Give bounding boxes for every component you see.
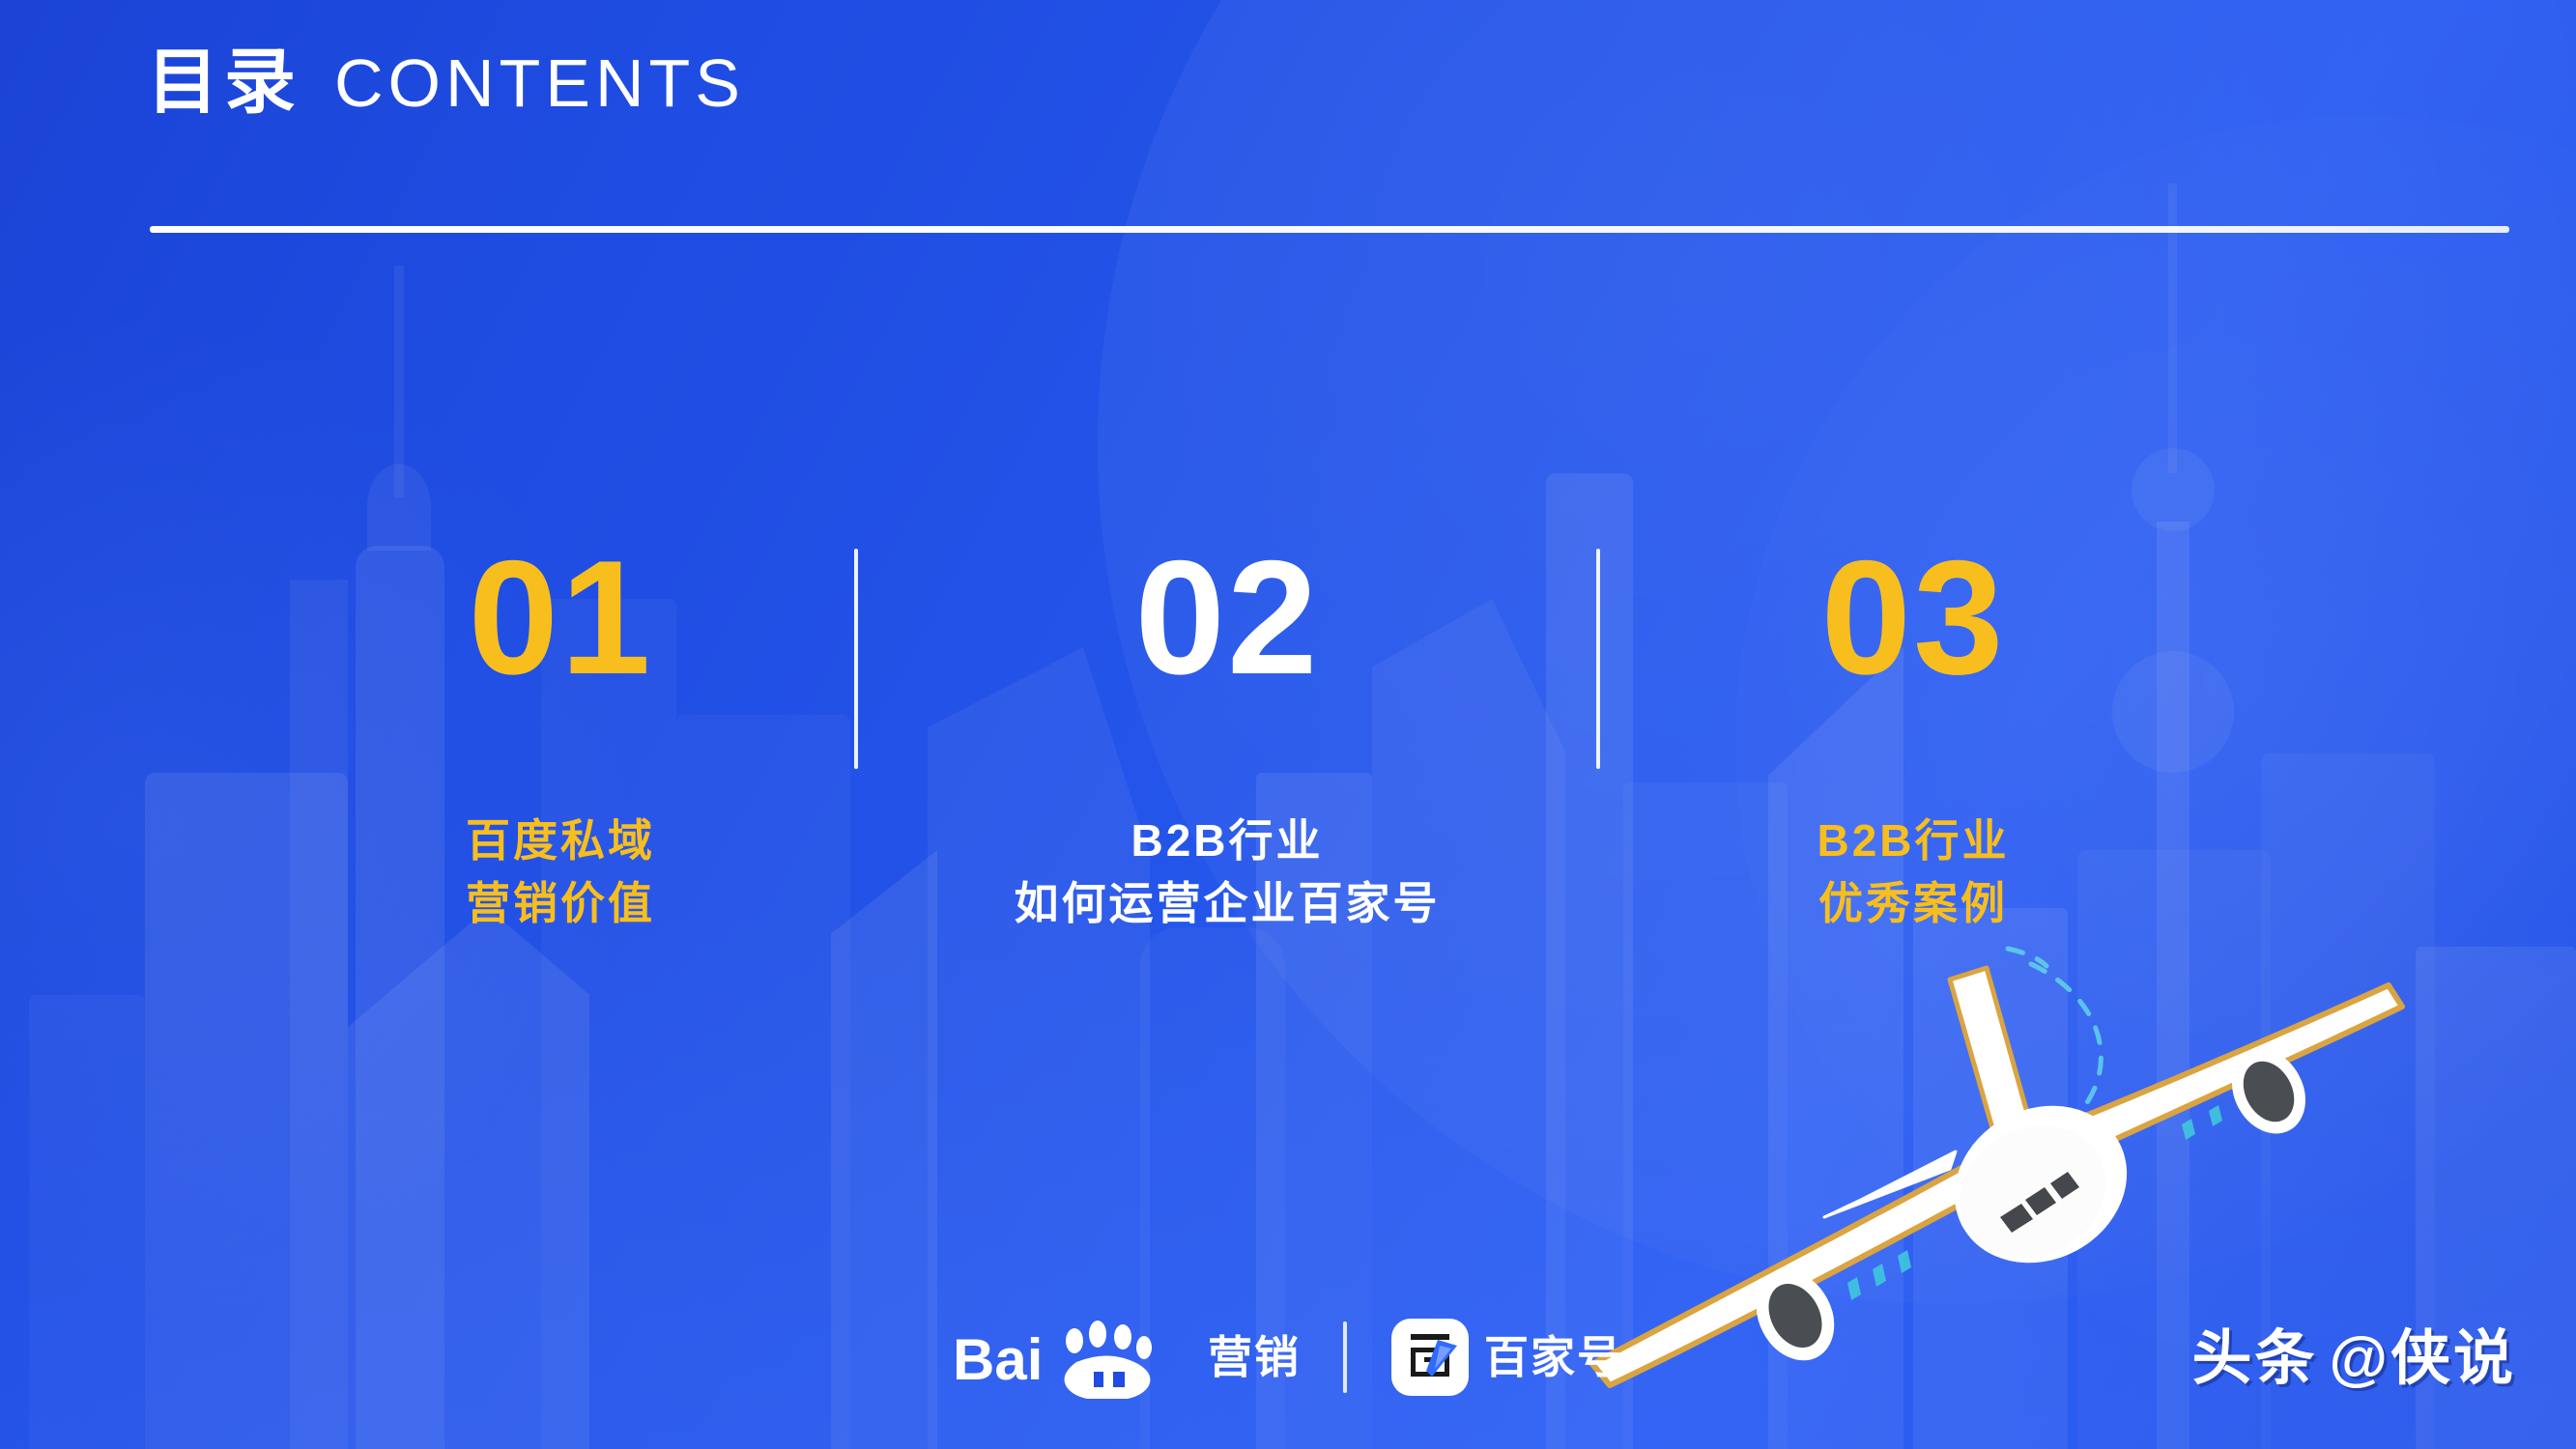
contents-item-label: B2B行业 如何运营企业百家号 — [1015, 810, 1441, 936]
baijiahao-app-icon — [1389, 1317, 1471, 1398]
baidu-paw-icon: Bai — [953, 1316, 1194, 1399]
watermark-handle: @侠说 — [2330, 1329, 2516, 1389]
contents-item-03[interactable]: 03 B2B行业 优秀案例 — [1643, 541, 2184, 935]
column-divider-1 — [854, 549, 858, 769]
page-title: 目录 CONTENTS — [147, 46, 745, 118]
brand-baidu-marketing-label: 营销 — [1208, 1335, 1301, 1379]
page-title-english: CONTENTS — [334, 49, 745, 117]
presentation-slide: 目录 CONTENTS 01 百度私域 营销价值 02 B2B行业 如何运营企业… — [0, 0, 2576, 1449]
footer-brand-separator — [1343, 1321, 1347, 1393]
contents-item-number: 02 — [1135, 541, 1320, 696]
contents-item-number: 01 — [469, 541, 653, 696]
contents-item-label: 百度私域 营销价值 — [466, 810, 655, 936]
airplane-illustration — [1571, 910, 2441, 1393]
brand-baidu-marketing: Bai 营销 — [953, 1316, 1301, 1399]
column-divider-2 — [1596, 549, 1600, 769]
page-title-chinese: 目录 — [147, 46, 301, 118]
airplane-wing-far — [1950, 968, 2027, 1128]
header-divider-rule — [150, 226, 2509, 233]
contents-item-number: 03 — [1821, 541, 2006, 696]
contents-item-02[interactable]: 02 B2B行业 如何运营企业百家号 — [879, 541, 1575, 935]
watermark-platform: 头条 — [2192, 1329, 2318, 1389]
svg-text:Bai: Bai — [953, 1327, 1043, 1392]
watermark: 头条 @侠说 — [2192, 1329, 2516, 1389]
contents-item-01[interactable]: 01 百度私域 营销价值 — [290, 541, 831, 935]
